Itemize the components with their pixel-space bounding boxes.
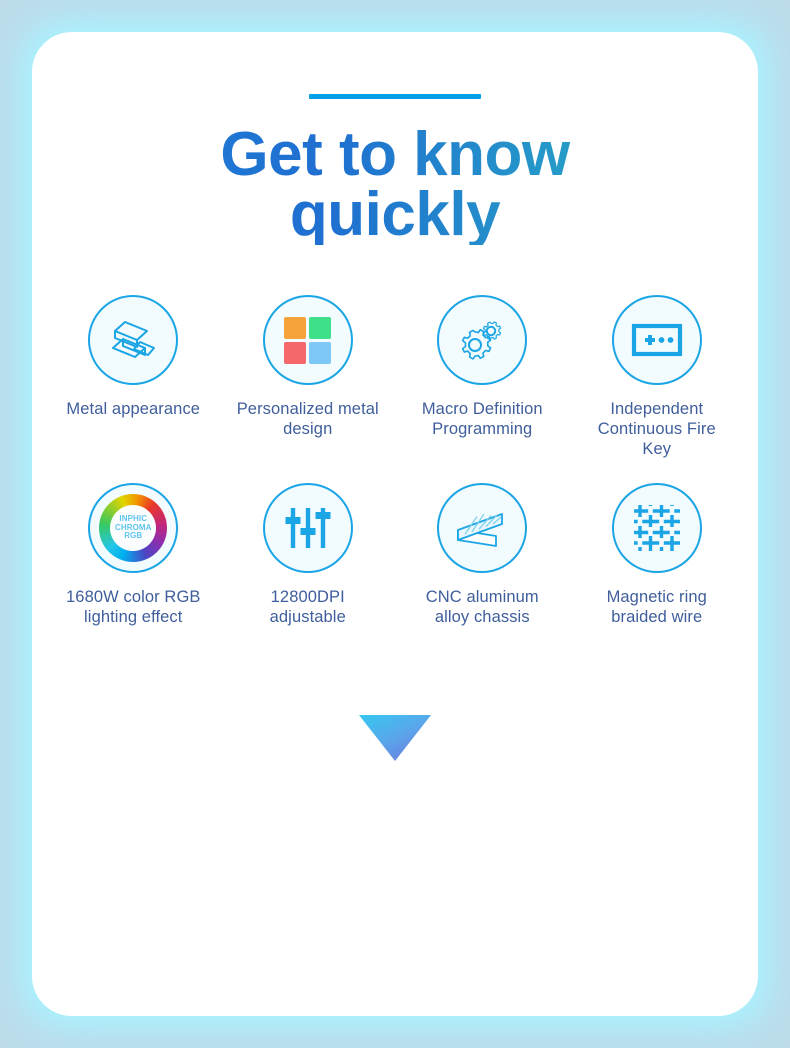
square-red [284,342,306,364]
feature-grid: Metal appearance Personalized metal desi… [32,295,758,627]
rgb-color-wheel: INPHIC CHROMA RGB [99,494,167,562]
feature-label: Macro Definition Programming [407,399,557,439]
rgb-ring-icon: INPHIC CHROMA RGB [88,483,178,573]
gears-icon [437,295,527,385]
down-arrow-icon[interactable] [359,715,431,761]
feature-label: Personalized metal design [233,399,383,439]
feature-label: CNC aluminum alloy chassis [407,587,557,627]
cnc-aluminum-plates-icon [437,483,527,573]
feature-label: Magnetic ring braided wire [582,587,732,627]
feature-label: 1680W color RGB lighting effect [58,587,208,627]
page-title-line-1: Get to know [72,125,718,185]
feature-item-braided-wire: Magnetic ring braided wire [570,483,745,627]
feature-item-dpi-adjustable: 12800DPI adjustable [221,483,396,627]
feature-item-personalized-metal-design: Personalized metal design [221,295,396,459]
metal-ingots-icon [88,295,178,385]
page-title: Get to know quickly [32,125,758,245]
rgb-badge-line-3: RGB [115,532,152,541]
feature-label: Metal appearance [66,399,200,419]
feature-item-macro-definition-programming: Macro Definition Programming [395,295,570,459]
square-blue [309,342,331,364]
accent-bar [309,94,481,99]
braided-weave-icon [612,483,702,573]
feature-item-rgb-lighting: INPHIC CHROMA RGB 1680W color RGB lighti… [46,483,221,627]
feature-item-metal-appearance: Metal appearance [46,295,221,459]
feature-label: Independent Continuous Fire Key [582,399,732,459]
page-title-line-2: quickly [72,185,718,245]
feature-item-cnc-aluminum-chassis: CNC aluminum alloy chassis [395,483,570,627]
dpi-sliders-icon [263,483,353,573]
color-squares-icon [263,295,353,385]
feature-card: Get to know quickly Metal appearance [32,32,758,1016]
square-orange [284,317,306,339]
square-green [309,317,331,339]
fire-key-icon [612,295,702,385]
page-background: Get to know quickly Metal appearance [0,0,790,1048]
feature-item-continuous-fire-key: Independent Continuous Fire Key [570,295,745,459]
feature-label: 12800DPI adjustable [233,587,383,627]
scroll-down-indicator[interactable] [32,715,758,761]
rgb-badge-text: INPHIC CHROMA RGB [115,515,152,541]
